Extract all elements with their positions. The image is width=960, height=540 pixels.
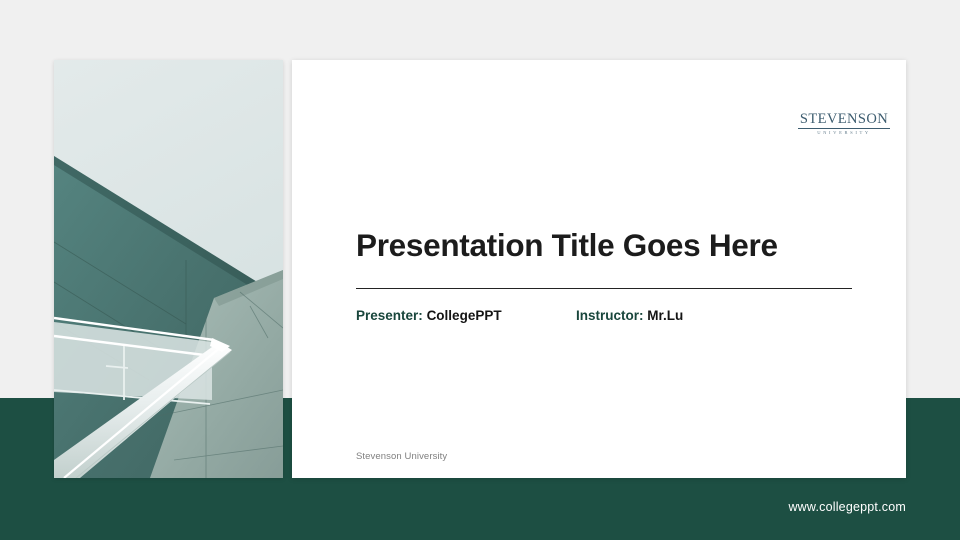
cover-photo-panel xyxy=(54,60,283,478)
presenter-credit: Presenter: CollegePPT xyxy=(356,308,576,323)
instructor-credit: Instructor: Mr.Lu xyxy=(576,308,683,323)
title-divider xyxy=(356,288,852,289)
architecture-photo-icon xyxy=(54,60,283,478)
presenter-value: CollegePPT xyxy=(427,308,502,323)
logo-wordmark: STEVENSON xyxy=(798,112,890,129)
slide-footer-text: Stevenson University xyxy=(356,451,447,462)
slide-content-card: STEVENSON UNIVERSITY Presentation Title … xyxy=(292,60,906,478)
site-url-text: www.collegeppt.com xyxy=(788,500,906,514)
logo-subtext: UNIVERSITY xyxy=(798,131,890,136)
presenter-label: Presenter: xyxy=(356,308,423,323)
stevenson-university-logo-icon: STEVENSON UNIVERSITY xyxy=(798,112,890,135)
page-title: Presentation Title Goes Here xyxy=(356,228,856,263)
instructor-value: Mr.Lu xyxy=(647,308,683,323)
credits-row: Presenter: CollegePPT Instructor: Mr.Lu xyxy=(356,308,876,323)
instructor-label: Instructor: xyxy=(576,308,644,323)
presentation-slide: www.collegeppt.com xyxy=(0,0,960,540)
